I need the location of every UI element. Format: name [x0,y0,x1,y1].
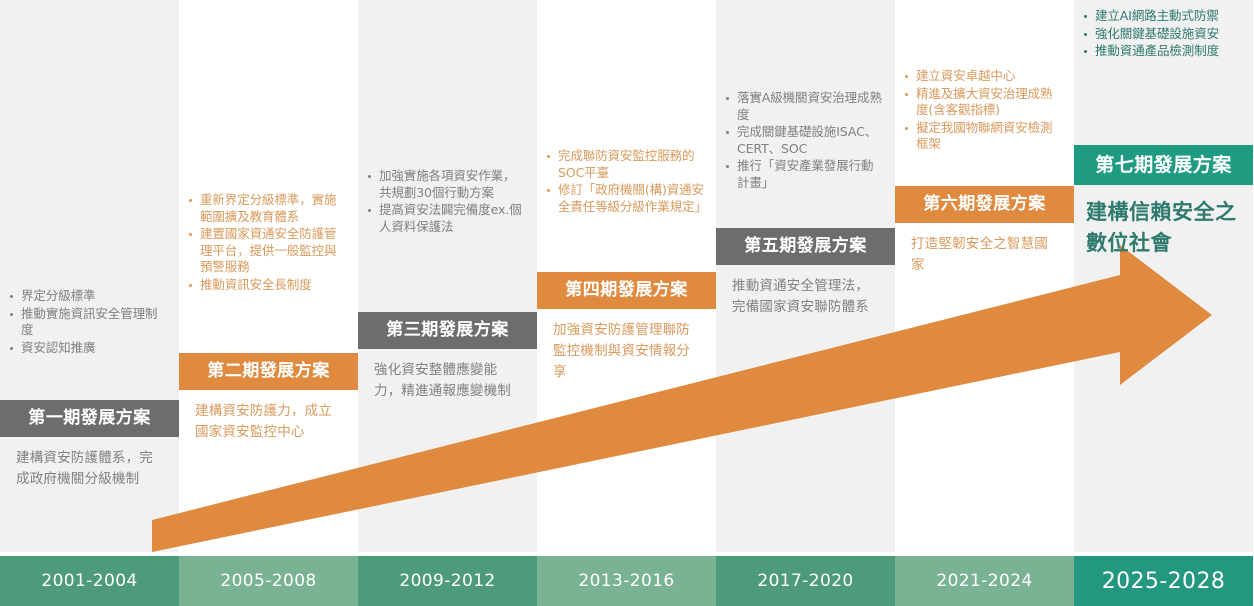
phase-bullet-item: 加強實施各項資安作業，共規劃30個行動方案 [364,168,525,201]
phase-bullet-item: 修訂「政府機關(構)資通安全責任等級分級作業規定」 [543,182,704,215]
phase-description: 強化資安整體應變能力，精進通報應變機制 [358,360,537,402]
phase-title-bar: 第一期發展方案 [0,400,179,437]
phase-title-bar: 第七期發展方案 [1074,145,1253,185]
phase-bullet-list: 重新界定分級標準，實施範圍擴及教育體系建置國家資通安全防護管理平台，提供一般監控… [179,192,358,294]
phase-bullet-item: 推行「資安產業發展行動計畫」 [722,158,883,191]
phase-bullet-item: 提高資安法闢完備度ex.個人資料保護法 [364,202,525,235]
phase-title-bar: 第二期發展方案 [179,353,358,390]
phase-bullet-item: 擬定我國物聯網資安檢測框架 [901,120,1062,153]
timeline-period: 2005-2008 [179,556,358,606]
timeline-period: 2009-2012 [358,556,537,606]
timeline-period: 2021-2024 [895,556,1074,606]
phase-description: 推動資通安全管理法，完備國家資安聯防體系 [716,276,895,318]
phase-description: 建構資安防護力，成立國家資安監控中心 [179,401,358,443]
phase-bullet-item: 資安認知推廣 [6,340,167,357]
phase-bullet-list: 界定分級標準推動實施資訊安全管理制度資安認知推廣 [0,288,179,357]
phase-bullet-item: 建置國家資通安全防護管理平台，提供一般監控與預警服務 [185,226,346,276]
phase-bullet-item: 重新界定分級標準，實施範圍擴及教育體系 [185,192,346,225]
phase-bullet-item: 完成關鍵基礎設施ISAC、CERT、SOC [722,124,883,157]
phase-bullet-list: 完成聯防資安監控服務的SOC平臺修訂「政府機關(構)資通安全責任等級分級作業規定… [537,148,716,216]
phase-description: 打造堅韌安全之智慧國家 [895,234,1074,276]
phase-bullet-list: 建立資安卓越中心精進及擴大資安治理成熟度(含客觀指標)擬定我國物聯網資安檢測框架 [895,68,1074,154]
phase-bullet-item: 推動資訊安全長制度 [185,277,346,294]
phase-title-bar: 第五期發展方案 [716,228,895,265]
phase-bullet-list: 加強實施各項資安作業，共規劃30個行動方案提高資安法闢完備度ex.個人資料保護法 [358,168,537,236]
phase-bullet-list: 落實A級機關資安治理成熟度完成關鍵基礎設施ISAC、CERT、SOC推行「資安產… [716,90,895,192]
phase-title-bar: 第三期發展方案 [358,312,537,349]
phase-description: 建構資安防護體系，完成政府機關分級機制 [0,448,179,490]
phase-title-bar: 第六期發展方案 [895,186,1074,223]
phase-bullet-item: 推動資通產品檢測制度 [1080,43,1241,60]
infographic-canvas: 界定分級標準推動實施資訊安全管理制度資安認知推廣第一期發展方案建構資安防護體系，… [0,0,1254,606]
phase-column: 界定分級標準推動實施資訊安全管理制度資安認知推廣第一期發展方案建構資安防護體系，… [0,0,179,552]
phase-bullet-item: 強化關鍵基礎設施資安 [1080,26,1241,43]
phase-title-bar: 第四期發展方案 [537,272,716,309]
phase-column: 完成聯防資安監控服務的SOC平臺修訂「政府機關(構)資通安全責任等級分級作業規定… [537,0,716,552]
phase-bullet-item: 完成聯防資安監控服務的SOC平臺 [543,148,704,181]
phase-bullet-item: 建立AI網路主動式防禦 [1080,8,1241,25]
timeline-period: 2013-2016 [537,556,716,606]
phase-column: 建立資安卓越中心精進及擴大資安治理成熟度(含客觀指標)擬定我國物聯網資安檢測框架… [895,0,1074,552]
phase-bullet-item: 推動實施資訊安全管理制度 [6,306,167,339]
phase-bullet-item: 落實A級機關資安治理成熟度 [722,90,883,123]
phase-column: 建立AI網路主動式防禦強化關鍵基礎設施資安推動資通產品檢測制度第七期發展方案建構… [1074,0,1253,552]
phase-column: 加強實施各項資安作業，共規劃30個行動方案提高資安法闢完備度ex.個人資料保護法… [358,0,537,552]
timeline-period: 2025-2028 [1074,556,1253,606]
phase-bullet-item: 精進及擴大資安治理成熟度(含客觀指標) [901,86,1062,119]
timeline-period: 2001-2004 [0,556,179,606]
timeline-period: 2017-2020 [716,556,895,606]
phase-bullet-item: 建立資安卓越中心 [901,68,1062,85]
phase-description: 建構信賴安全之數位社會 [1074,197,1253,259]
phase-description: 加強資安防護管理聯防監控機制與資安情報分享 [537,320,716,383]
timeline-bar: 2001-20042005-20082009-20122013-20162017… [0,556,1254,606]
phase-column: 落實A級機關資安治理成熟度完成關鍵基礎設施ISAC、CERT、SOC推行「資安產… [716,0,895,552]
phase-bullet-item: 界定分級標準 [6,288,167,305]
phase-bullet-list: 建立AI網路主動式防禦強化關鍵基礎設施資安推動資通產品檢測制度 [1074,8,1253,61]
phase-column: 重新界定分級標準，實施範圍擴及教育體系建置國家資通安全防護管理平台，提供一般監控… [179,0,358,552]
